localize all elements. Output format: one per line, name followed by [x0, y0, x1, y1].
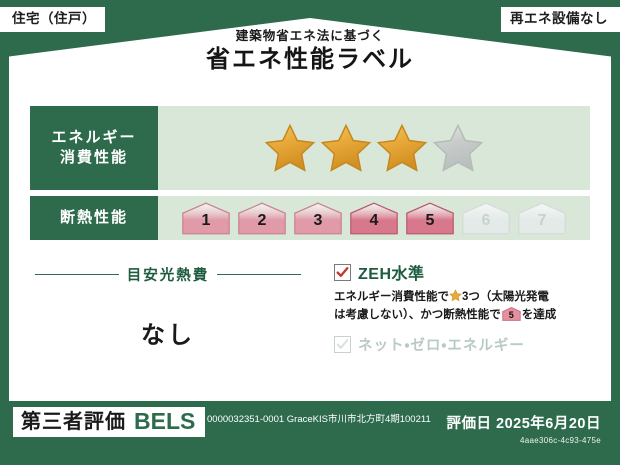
evaluation-date-label: 評価日 [447, 416, 492, 432]
page-title: 省エネ性能ラベル [0, 46, 620, 74]
label-footer: 第三者評価 BELS 0000032351-0001 GraceKIS市川市北方… [9, 404, 611, 450]
insulation-level-chip: 1 [181, 202, 231, 235]
registration-number: 0000032351-0001 GraceKIS市川市北方町4期100211 [207, 413, 457, 427]
energy-performance-heading: エネルギー 消費性能 [30, 106, 158, 190]
zeh-desc-line2-b: を達成 [522, 309, 557, 321]
zeh-desc-line2-a: は考慮しない）、かつ断熱性能で [334, 309, 501, 321]
insulation-level-value: 2 [258, 213, 267, 235]
third-party-eval-label: 第三者評価 [21, 412, 126, 432]
energy-heading-line2: 消費性能 [60, 148, 128, 168]
utility-cost-header: 目安光熱費 [35, 264, 301, 285]
utility-cost-value: なし [9, 315, 327, 350]
performance-section: エネルギー 消費性能 断熱性能 1234567 [30, 106, 590, 246]
mini-star-icon [449, 289, 462, 302]
star-filled-icon [375, 122, 429, 174]
insulation-performance-row: 断熱性能 1234567 [30, 196, 590, 240]
net-zero-energy-label: ネット・ゼロ・エネルギー [358, 334, 525, 355]
insulation-level-chip: 6 [461, 202, 511, 235]
divider-right [217, 274, 301, 275]
document-hash: 4aae306c-4c93-475e [447, 436, 601, 445]
mini-chip-value: 5 [502, 311, 521, 320]
insulation-level-value: 7 [538, 213, 547, 235]
evaluation-date-block: 評価日 2025年6月20日 4aae306c-4c93-475e [447, 412, 601, 445]
insulation-performance-heading: 断熱性能 [30, 196, 158, 240]
utility-cost-section: 目安光熱費 なし [9, 248, 327, 398]
bels-logo: 第三者評価 BELS [13, 407, 205, 437]
divider-left [35, 274, 119, 275]
zeh-description: エネルギー消費性能で 3つ（太陽光発電 は考慮しない）、かつ断熱性能で 5 を達… [334, 289, 601, 325]
insulation-level-chip: 4 [349, 202, 399, 235]
insulation-level-value: 6 [482, 213, 491, 235]
evaluation-date: 評価日 2025年6月20日 [447, 412, 601, 433]
badge-building-type: 住宅（住戸） [0, 7, 105, 32]
insulation-level-value: 4 [370, 213, 379, 235]
lower-section: 目安光熱費 なし ZEH水準 エネルギー消費性能で [9, 248, 611, 398]
star-rating [158, 106, 590, 190]
insulation-level-value: 1 [202, 213, 211, 235]
checkbox-unchecked-icon[interactable] [334, 336, 351, 353]
insulation-level-chip: 2 [237, 202, 287, 235]
label-body-card: エネルギー 消費性能 断熱性能 1234567 目安光熱費 なし [9, 96, 611, 401]
checkbox-checked-icon[interactable] [334, 264, 351, 281]
header-subtitle: 建築物省エネ法に基づく [0, 30, 620, 44]
zeh-standard-row[interactable]: ZEH水準 [334, 260, 601, 284]
zeh-desc-line1-a: エネルギー消費性能で [334, 291, 449, 303]
label-header: 建築物省エネ法に基づく 省エネ性能ラベル [0, 30, 620, 73]
zeh-desc-line1-b: 3つ（太陽光発電 [462, 291, 549, 303]
net-zero-energy-row[interactable]: ネット・ゼロ・エネルギー [334, 334, 601, 355]
energy-performance-label: 住宅（住戸） 再エネ設備なし 建築物省エネ法に基づく 省エネ性能ラベル エネルギ… [0, 0, 620, 465]
insulation-level-scale: 1234567 [158, 196, 590, 240]
insulation-level-chip: 3 [293, 202, 343, 235]
insulation-level-value: 5 [426, 213, 435, 235]
insulation-level-value: 3 [314, 213, 323, 235]
insulation-level-chip: 7 [517, 202, 567, 235]
star-filled-icon [319, 122, 373, 174]
energy-performance-row: エネルギー 消費性能 [30, 106, 590, 190]
zeh-standard-label: ZEH水準 [358, 260, 425, 284]
star-filled-icon [263, 122, 317, 174]
evaluation-date-value: 2025年6月20日 [496, 416, 601, 432]
star-empty-icon [431, 122, 485, 174]
mini-insulation-chip: 5 [502, 307, 521, 321]
badge-renewable-energy: 再エネ設備なし [501, 7, 620, 32]
utility-cost-title: 目安光熱費 [127, 264, 210, 285]
insulation-level-chip: 5 [405, 202, 455, 235]
bels-wordmark: BELS [134, 410, 195, 433]
zeh-section: ZEH水準 エネルギー消費性能で 3つ（太陽光発電 は考慮しない）、かつ断熱性能… [327, 248, 611, 398]
energy-heading-line1: エネルギー [51, 128, 136, 148]
